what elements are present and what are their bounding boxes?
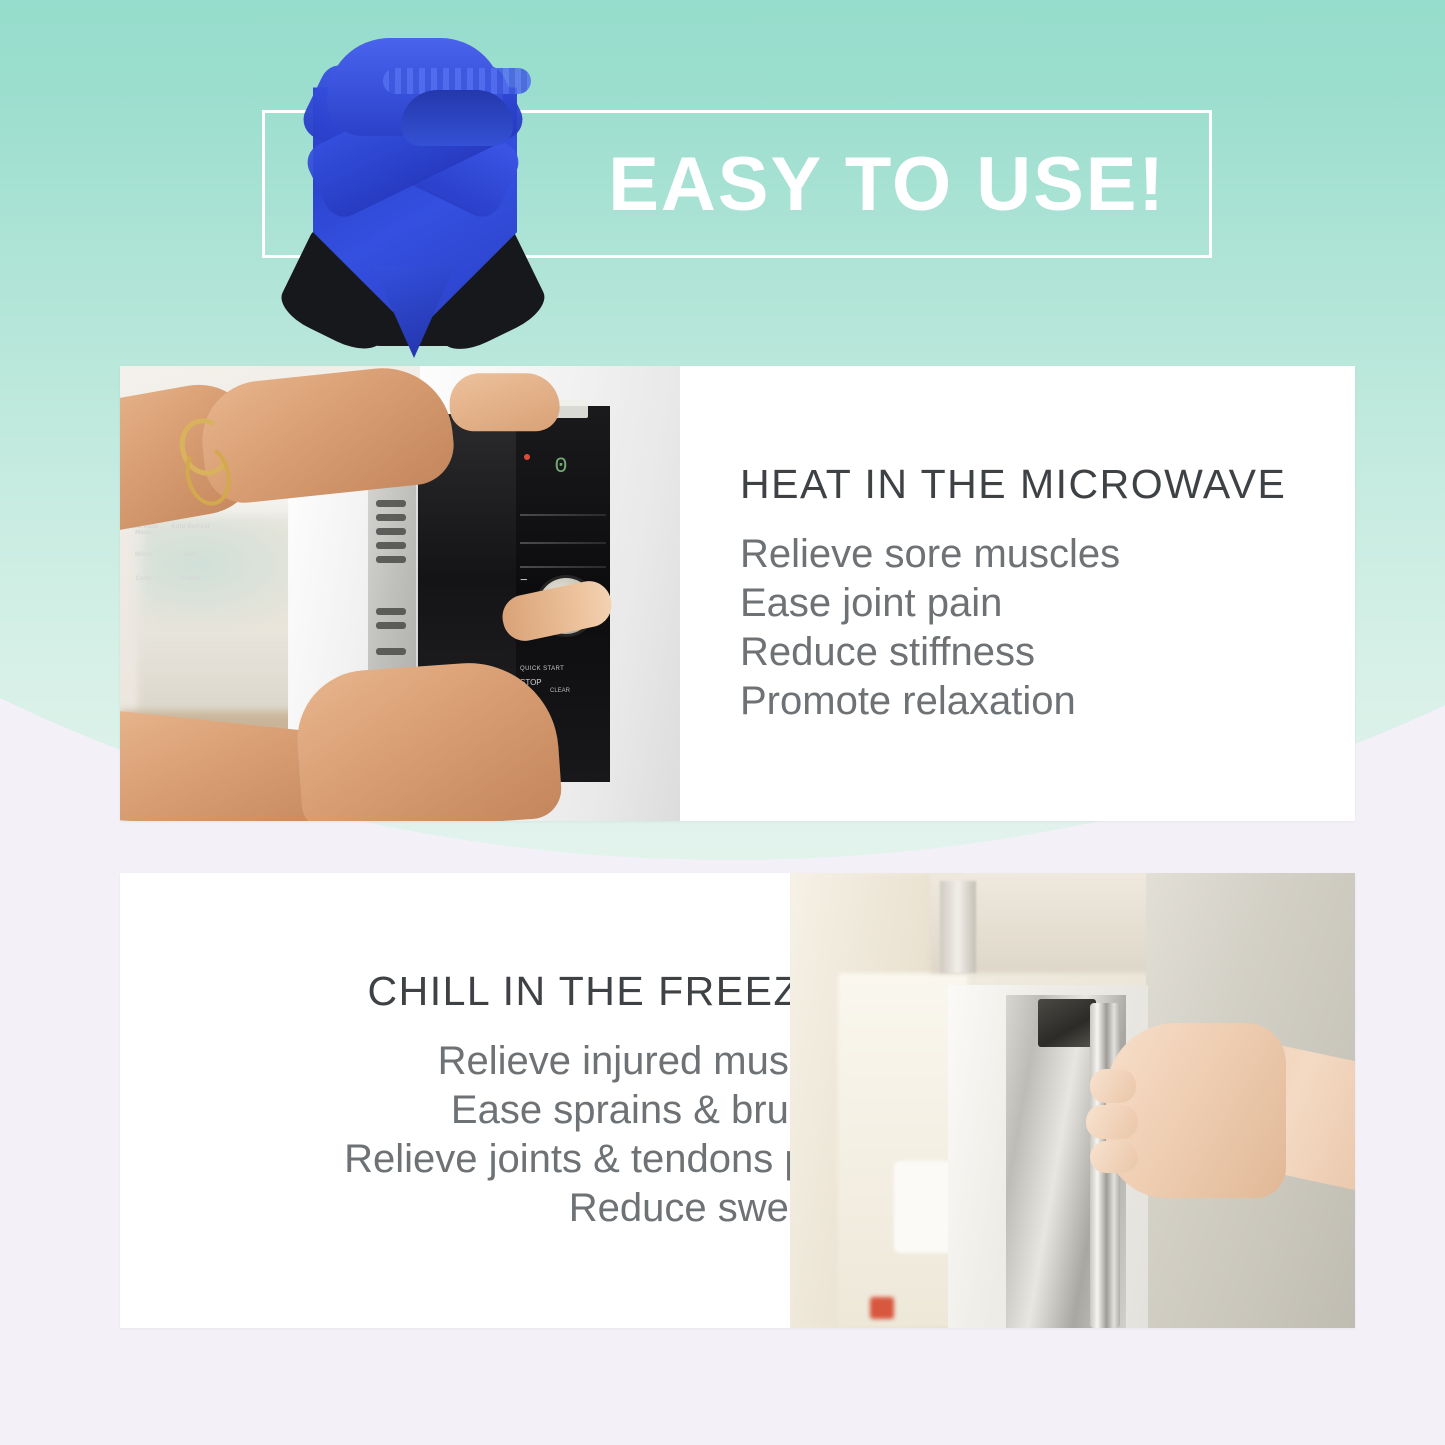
- heat-section-title: HEAT IN THE MICROWAVE: [740, 461, 1286, 508]
- benefit-item: Promote relaxation: [740, 677, 1120, 726]
- dial-minus-icon: −: [520, 572, 528, 587]
- chill-benefit-list: Relieve injured muscles Ease sprains & b…: [344, 1037, 860, 1232]
- heat-copy-block: HEAT IN THE MICROWAVE Relieve sore muscl…: [740, 366, 1340, 821]
- benefit-item: Reduce swelling: [344, 1184, 860, 1233]
- microwave-display: 0: [550, 452, 572, 480]
- chill-copy-block: CHILL IN THE FREEZER Relieve injured mus…: [240, 873, 860, 1328]
- upper-fingers: [450, 373, 560, 431]
- panel-button-row-3: Micro Grill: [120, 552, 214, 558]
- card-heat-in-microwave: 0 Crispy Reheat Quick Defrost Clock Thai…: [120, 366, 1355, 821]
- button-quick-start[interactable]: QUICK START: [520, 666, 564, 672]
- chrome-trim: [940, 881, 976, 973]
- power-indicator-icon: [524, 454, 530, 460]
- panel-button-row-4: Conv Combi: [120, 576, 214, 582]
- benefit-item: Reduce stiffness: [740, 628, 1120, 677]
- benefit-item: Ease sprains & bruises: [344, 1086, 860, 1135]
- benefit-item: Relieve injured muscles: [344, 1037, 860, 1086]
- wrap-collar: [327, 38, 503, 136]
- button-micro[interactable]: Micro: [120, 552, 167, 558]
- benefit-item: Relieve sore muscles: [740, 530, 1120, 579]
- infographic-canvas: EASY TO USE!: [0, 0, 1445, 1445]
- freezer-photo: [790, 873, 1355, 1328]
- chill-section-title: CHILL IN THE FREEZER: [368, 968, 860, 1015]
- button-combi[interactable]: Combi: [167, 576, 214, 582]
- finger: [1090, 1141, 1138, 1173]
- vent-slot: [376, 608, 406, 615]
- card-chill-in-freezer: CHILL IN THE FREEZER Relieve injured mus…: [120, 873, 1355, 1328]
- benefit-item: Relieve joints & tendons pain: [344, 1135, 860, 1184]
- red-item: [870, 1297, 894, 1319]
- vent-slot: [376, 500, 406, 507]
- button-conv[interactable]: Conv: [120, 576, 167, 582]
- finger: [1086, 1105, 1138, 1139]
- panel-divider: [520, 542, 606, 544]
- white-container: [894, 1161, 954, 1253]
- wrap-collar-opening: [401, 90, 513, 146]
- button-grill[interactable]: Grill: [167, 552, 214, 558]
- panel-divider: [520, 566, 606, 568]
- vent-slot: [376, 648, 406, 655]
- vent-slot: [376, 622, 406, 629]
- vent-slot: [376, 542, 406, 549]
- refrigerator-scene: [790, 873, 1355, 1328]
- lower-hand: [293, 657, 564, 821]
- panel-divider: [520, 514, 606, 516]
- finger: [1090, 1069, 1136, 1103]
- vent-slot: [376, 556, 406, 563]
- button-auto-defrost[interactable]: Auto Defrost: [167, 524, 214, 537]
- vent-slot: [376, 514, 406, 521]
- kitchen-scene: 0 Crispy Reheat Quick Defrost Clock Thai…: [120, 366, 680, 821]
- benefit-item: Ease joint pain: [740, 579, 1120, 628]
- vent-slot: [376, 528, 406, 535]
- product-neck-wrap-image: [285, 14, 543, 362]
- button-clear[interactable]: CLEAR: [550, 688, 570, 694]
- handle-bracket: [1038, 999, 1096, 1047]
- microwave-photo: 0 Crispy Reheat Quick Defrost Clock Thai…: [120, 366, 680, 821]
- heat-benefit-list: Relieve sore muscles Ease joint pain Red…: [740, 530, 1120, 725]
